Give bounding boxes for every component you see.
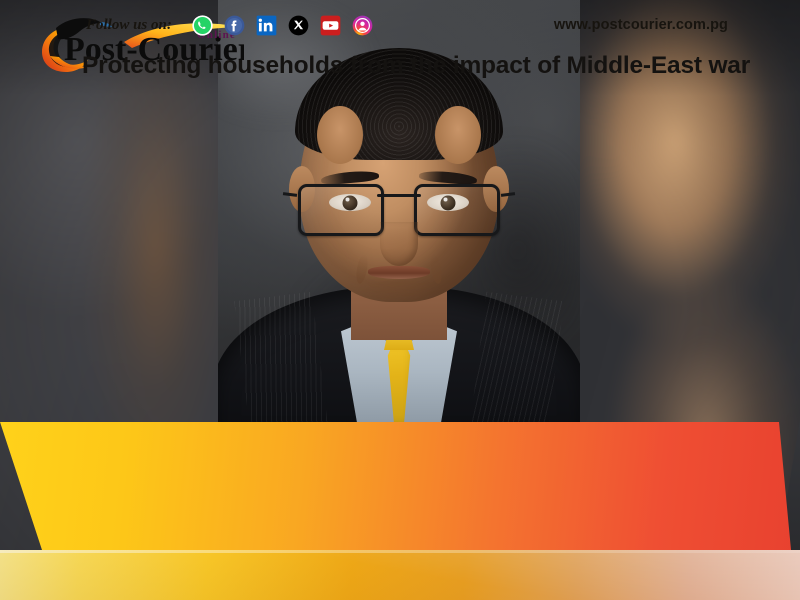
- footer-bar: [0, 550, 800, 600]
- lens-right: [414, 184, 500, 236]
- linkedin-icon[interactable]: [256, 15, 277, 36]
- forehead-left: [317, 106, 363, 164]
- lens-left: [298, 184, 384, 236]
- headline-text: Protecting households from the impact of…: [82, 52, 742, 80]
- head: [299, 54, 499, 302]
- glasses-bridge: [377, 194, 421, 197]
- nose: [380, 222, 418, 266]
- instagram-icon[interactable]: [352, 15, 373, 36]
- chin: [364, 280, 434, 302]
- x-twitter-icon[interactable]: [288, 15, 309, 36]
- whatsapp-icon[interactable]: [192, 15, 213, 36]
- website-url[interactable]: www.postcourier.com.pg: [554, 0, 728, 50]
- headline-banner: [0, 420, 800, 550]
- news-share-card: Post-Courier Online Protecting household…: [0, 0, 800, 600]
- footer-sheen: [0, 550, 800, 600]
- smile-line-left: [354, 253, 369, 284]
- mouth: [368, 266, 430, 279]
- youtube-icon[interactable]: [320, 15, 341, 36]
- follow-us-group: Follow us on:: [86, 0, 373, 50]
- follow-us-label: Follow us on:: [86, 17, 172, 34]
- smile-line-right: [428, 253, 443, 284]
- forehead-right: [435, 106, 481, 164]
- facebook-icon[interactable]: [224, 15, 245, 36]
